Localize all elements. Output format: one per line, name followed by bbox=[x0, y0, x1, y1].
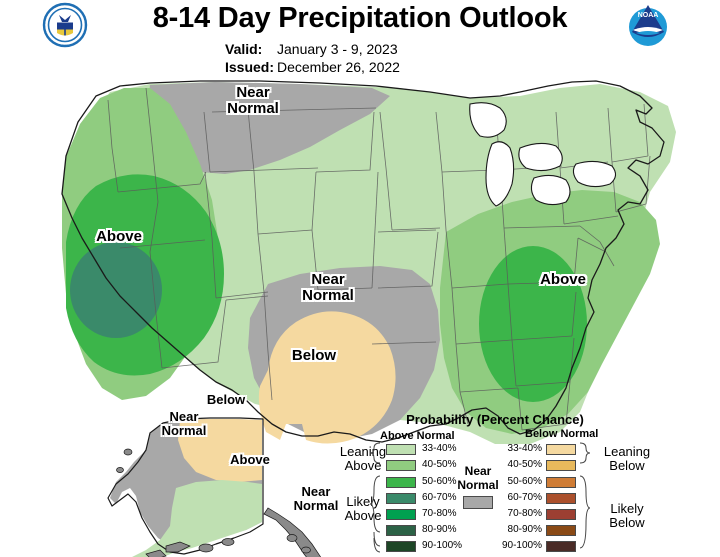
legend-below-normal-header: Below Normal bbox=[525, 428, 598, 440]
likely-above-line-2: Above bbox=[328, 509, 398, 523]
leaning-above-line-2: Above bbox=[328, 459, 398, 473]
legend-swatch-below-80-90 bbox=[546, 525, 576, 536]
legend-swatch-below-60-70 bbox=[546, 493, 576, 504]
legend-swatch-below-50-60 bbox=[546, 477, 576, 488]
leaning-below-line-1: Leaning bbox=[592, 445, 662, 459]
legend-swatch-above-50-60 bbox=[386, 477, 416, 488]
legend-range-below-40-50: 40-50% bbox=[502, 459, 542, 471]
legend-range-below-90-100: 90-100% bbox=[498, 540, 542, 552]
legend-near-normal-label: Near Normal bbox=[448, 464, 508, 492]
legend-range-above-60-70: 60-70% bbox=[422, 492, 456, 504]
legend-leaning-below-label: Leaning Below bbox=[592, 445, 662, 473]
leaning-below-line-2: Below bbox=[592, 459, 662, 473]
legend-swatch-above-90-100 bbox=[386, 541, 416, 552]
brace-likely-below bbox=[580, 476, 590, 548]
brace-leaning-below bbox=[580, 443, 590, 463]
legend-range-below-70-80: 70-80% bbox=[502, 508, 542, 520]
legend-swatch-near-normal bbox=[463, 496, 493, 509]
page-title: 8-14 Day Precipitation Outlook bbox=[100, 2, 620, 35]
legend-likely-above-label: Likely Above bbox=[328, 495, 398, 523]
region-above-50-60-southeast bbox=[479, 246, 587, 402]
legend-panel: Probability (Percent Chance) Above Norma… bbox=[330, 412, 660, 554]
brace-likely-above-lower bbox=[374, 538, 380, 552]
legend-swatch-below-40-50 bbox=[546, 460, 576, 471]
legend-range-below-50-60: 50-60% bbox=[502, 476, 542, 488]
likely-below-line-1: Likely bbox=[592, 502, 662, 516]
conus-probability-fills bbox=[62, 82, 676, 444]
legend-range-below-33-40: 33-40% bbox=[502, 443, 542, 455]
legend-range-below-80-90: 80-90% bbox=[502, 524, 542, 536]
leaning-above-line-1: Leaning bbox=[328, 445, 398, 459]
legend-leaning-above-label: Leaning Above bbox=[328, 445, 398, 473]
legend-range-above-90-100: 90-100% bbox=[422, 540, 462, 552]
near-normal-line-1: Near bbox=[448, 464, 508, 478]
likely-below-line-2: Below bbox=[592, 516, 662, 530]
likely-above-line-1: Likely bbox=[328, 495, 398, 509]
legend-above-normal-header: Above Normal bbox=[380, 430, 455, 442]
legend-range-above-33-40: 33-40% bbox=[422, 443, 456, 455]
noaa-wordmark: NOAA bbox=[638, 12, 659, 19]
legend-swatch-below-70-80 bbox=[546, 509, 576, 520]
noaa-logo-icon: NOAA bbox=[620, 2, 676, 48]
legend-title: Probability (Percent Chance) bbox=[330, 412, 660, 427]
legend-swatch-below-33-40 bbox=[546, 444, 576, 455]
alaska-inset bbox=[75, 418, 327, 557]
legend-range-below-60-70: 60-70% bbox=[502, 492, 542, 504]
legend-likely-below-label: Likely Below bbox=[592, 502, 662, 530]
legend-range-above-80-90: 80-90% bbox=[422, 524, 456, 536]
legend-range-above-70-80: 70-80% bbox=[422, 508, 456, 520]
alaska-panhandle bbox=[264, 508, 326, 557]
legend-swatch-below-90-100 bbox=[546, 541, 576, 552]
near-normal-line-2: Normal bbox=[448, 478, 508, 492]
department-of-commerce-seal-icon bbox=[36, 2, 94, 48]
outlook-page: 8-14 Day Precipitation Outlook Valid:Jan… bbox=[0, 0, 720, 557]
legend-swatch-above-80-90 bbox=[386, 525, 416, 536]
